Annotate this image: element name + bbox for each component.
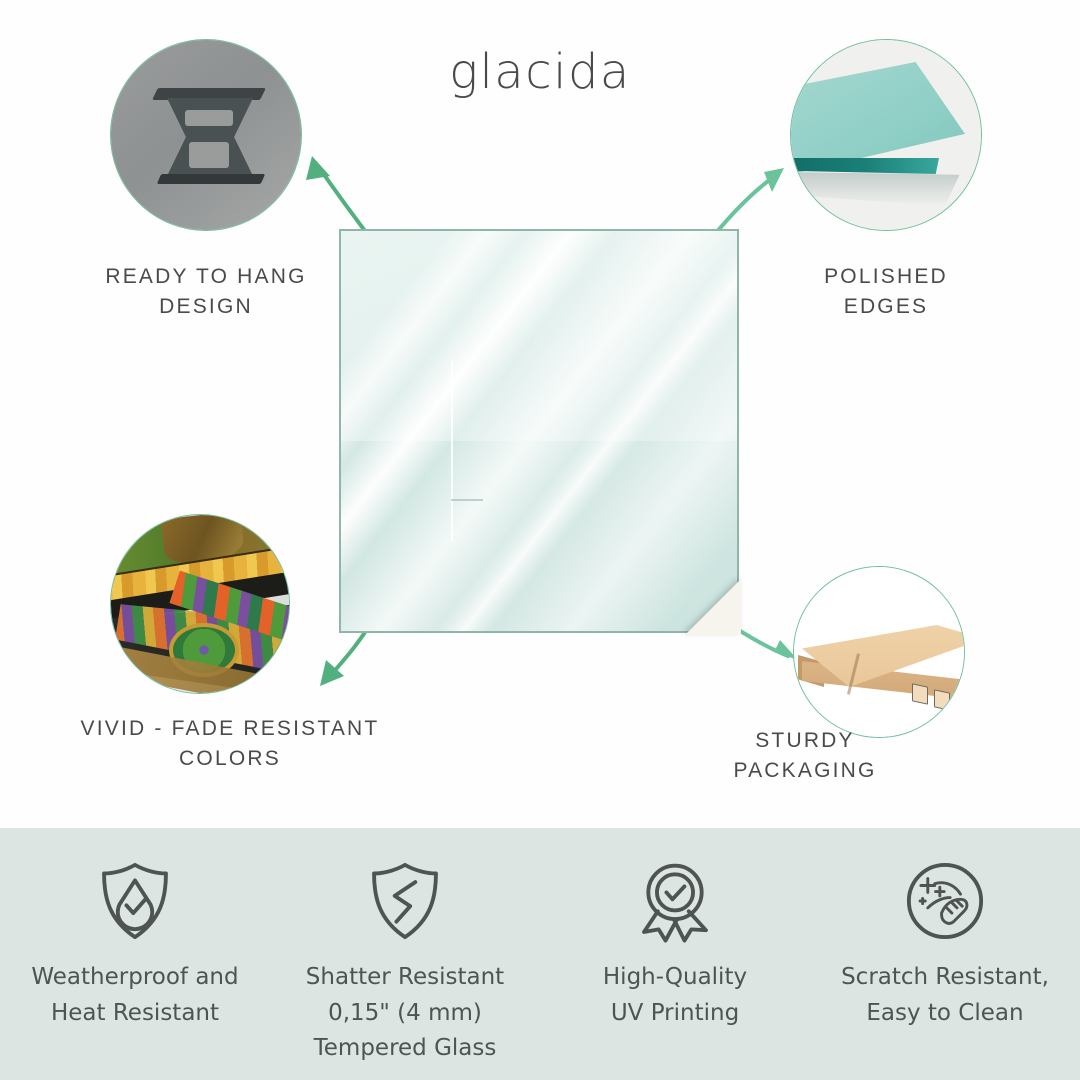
glass-reflection-line xyxy=(451,361,453,541)
bottom-feature-scratch-resistant: Scratch Resistant, Easy to Clean xyxy=(810,828,1080,1080)
caption-polished-edges: POLISHEDEDGES xyxy=(716,262,1056,323)
bottom-feature-label: Scratch Resistant, Easy to Clean xyxy=(841,960,1049,1031)
glass-edge-closeup-photo xyxy=(791,40,981,230)
peeled-corner xyxy=(685,579,741,635)
feature-image-ready-to-hang xyxy=(110,39,302,231)
bracket-base xyxy=(157,174,265,184)
glass-polished-edge xyxy=(790,158,939,174)
glass-surface xyxy=(339,229,739,633)
bottom-feature-shatter-resistant: Shatter Resistant 0,15" (4 mm) Tempered … xyxy=(270,828,540,1080)
bracket-upper-slot xyxy=(185,110,233,126)
arrowhead-down-left xyxy=(320,660,344,686)
caption-vivid-colors: VIVID - FADE RESISTANTCOLORS xyxy=(20,714,440,775)
tempered-glass-panel xyxy=(339,229,739,633)
award-ribbon-check-icon xyxy=(632,858,718,944)
this-side-up-icon xyxy=(912,683,928,704)
bracket-shape xyxy=(163,88,255,184)
feature-image-polished-edges xyxy=(790,39,982,231)
cardboard-box-photo xyxy=(794,567,964,737)
glass-reflection-line xyxy=(451,499,483,501)
bottom-feature-bar: Weatherproof and Heat Resistant Shatter … xyxy=(0,828,1080,1080)
edge-shadow xyxy=(790,172,967,206)
bottom-feature-uv-printing: High-Quality UV Printing xyxy=(540,828,810,1080)
caption-sturdy-packaging: STURDYPACKAGING xyxy=(630,726,980,787)
bracket-lower-slot xyxy=(189,142,229,168)
arrowhead-up-left xyxy=(306,156,330,180)
fragile-icon xyxy=(934,689,950,710)
bottom-feature-label: Weatherproof and Heat Resistant xyxy=(31,960,238,1031)
feature-image-sturdy-packaging xyxy=(793,566,965,738)
sparkle-wipe-hand-icon xyxy=(902,858,988,944)
shield-crack-icon xyxy=(362,858,448,944)
product-infographic: glacida xyxy=(0,0,1080,1080)
shield-droplet-check-icon xyxy=(92,858,178,944)
hanging-bracket-photo xyxy=(111,40,301,230)
bottom-feature-label: Shatter Resistant 0,15" (4 mm) Tempered … xyxy=(306,960,504,1067)
bottom-feature-label: High-Quality UV Printing xyxy=(603,960,747,1031)
arrowhead-up-right xyxy=(764,168,784,192)
stained-glass-artwork-photo xyxy=(111,515,289,693)
feature-image-vivid-colors xyxy=(110,514,290,694)
caption-ready-to-hang: READY TO HANGDESIGN xyxy=(36,262,376,323)
keep-dry-icon xyxy=(956,695,965,716)
bottom-feature-weatherproof: Weatherproof and Heat Resistant xyxy=(0,828,270,1080)
